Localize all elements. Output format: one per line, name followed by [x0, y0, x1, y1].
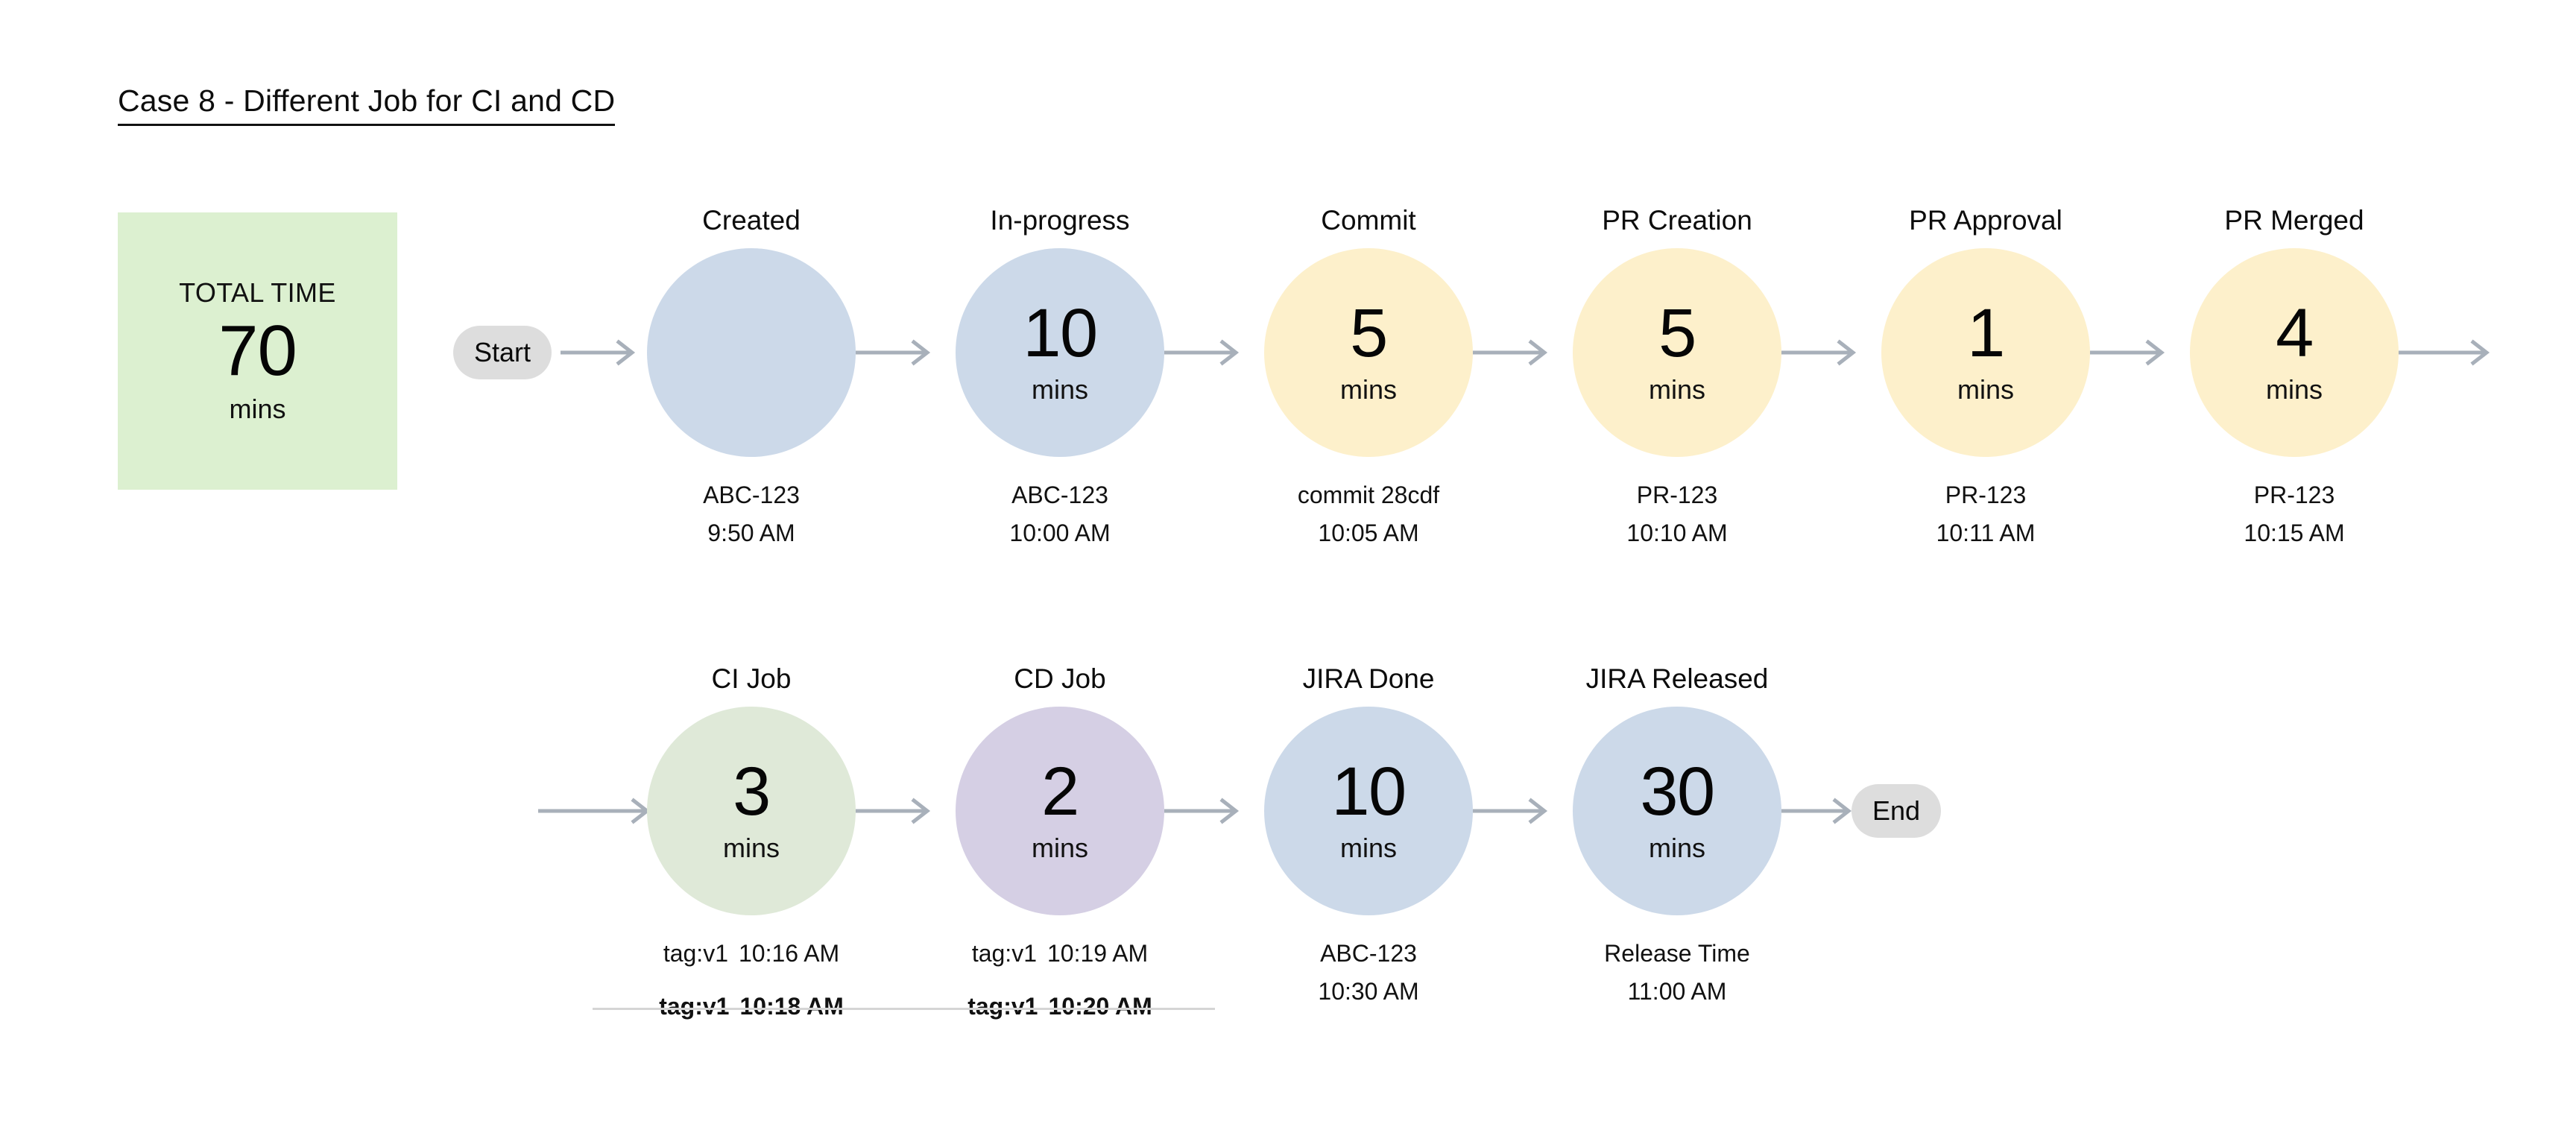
node-value: 5: [1350, 300, 1387, 367]
node-caption: tag:v110:16 AM tag:v110:18 AM: [617, 935, 885, 1025]
node-pr-merged[interactable]: PR Merged 4 mins PR-123 10:15 AM: [2190, 248, 2399, 457]
total-time-label: TOTAL TIME: [179, 277, 336, 309]
node-bubble[interactable]: 5 mins: [1264, 248, 1473, 457]
node-value: 30: [1640, 758, 1714, 825]
node-jira-released[interactable]: JIRA Released 30 mins Release Time 11:00…: [1573, 707, 1781, 915]
node-caption-time: 10:11 AM: [1851, 514, 2120, 552]
connector-created-to-inprogress: [856, 339, 938, 366]
total-time-value: 70: [218, 315, 297, 388]
caption-start-time: 10:19 AM: [1047, 940, 1148, 967]
node-bubble[interactable]: 30 mins: [1573, 707, 1781, 915]
node-caption-start: tag:v110:16 AM: [617, 935, 885, 973]
node-unit: mins: [1032, 374, 1088, 405]
node-caption-time: 9:50 AM: [617, 514, 885, 552]
node-bubble[interactable]: [647, 248, 856, 457]
node-bubble[interactable]: 4 mins: [2190, 248, 2399, 457]
node-caption: ABC-123 9:50 AM: [617, 476, 885, 552]
node-title: In-progress: [956, 205, 1164, 236]
node-created[interactable]: Created ABC-123 9:50 AM: [647, 248, 856, 457]
connector-prcreation-to-prapproval: [1781, 339, 1863, 366]
node-value: 2: [1041, 758, 1079, 825]
node-commit[interactable]: Commit 5 mins commit 28cdf 10:05 AM: [1264, 248, 1473, 457]
node-caption-ref: ABC-123: [617, 476, 885, 514]
node-title: CD Job: [956, 663, 1164, 695]
node-caption-time: 11:00 AM: [1543, 973, 1811, 1011]
node-caption-time: 10:30 AM: [1234, 973, 1503, 1011]
node-unit: mins: [1340, 833, 1397, 864]
caption-start-time: 10:16 AM: [739, 940, 839, 967]
node-title: CI Job: [647, 663, 856, 695]
node-jira-done[interactable]: JIRA Done 10 mins ABC-123 10:30 AM: [1264, 707, 1473, 915]
node-title: PR Approval: [1881, 205, 2090, 236]
connector-prapproval-to-prmerged: [2090, 339, 2172, 366]
start-marker[interactable]: Start: [453, 326, 552, 379]
node-value: 3: [733, 758, 770, 825]
caption-end-time: 10:20 AM: [1048, 993, 1152, 1020]
node-bubble[interactable]: 3 mins: [647, 707, 856, 915]
node-caption-ref: ABC-123: [926, 476, 1194, 514]
node-title: JIRA Released: [1573, 663, 1781, 695]
connector-row1-to-cijob: [538, 798, 657, 824]
node-caption: PR-123 10:10 AM: [1543, 476, 1811, 552]
page-title: Case 8 - Different Job for CI and CD: [118, 83, 615, 126]
node-value: 10: [1331, 758, 1405, 825]
connector-start-to-created: [561, 339, 643, 366]
caption-end-time: 10:18 AM: [739, 993, 843, 1020]
node-title: PR Merged: [2190, 205, 2399, 236]
connector-jiradone-to-jirareleased: [1473, 798, 1555, 824]
node-caption-ref: PR-123: [1543, 476, 1811, 514]
caption-end-tag: tag:v1: [659, 993, 729, 1020]
node-caption-ref: Release Time: [1543, 935, 1811, 973]
caption-start-tag: tag:v1: [972, 940, 1037, 967]
connector-prmerged-to-row2: [2399, 339, 2495, 366]
node-caption: Release Time 11:00 AM: [1543, 935, 1811, 1010]
node-bubble[interactable]: 2 mins: [956, 707, 1164, 915]
node-caption: ABC-123 10:00 AM: [926, 476, 1194, 552]
diagram-canvas: Case 8 - Different Job for CI and CD TOT…: [0, 0, 2576, 1127]
node-value: 10: [1023, 300, 1096, 367]
node-value: 1: [1967, 300, 2004, 367]
connector-cijob-to-cdjob: [856, 798, 938, 824]
node-unit: mins: [1649, 833, 1705, 864]
node-unit: mins: [2266, 374, 2323, 405]
node-caption: PR-123 10:11 AM: [1851, 476, 2120, 552]
node-caption-ref: commit 28cdf: [1234, 476, 1503, 514]
node-title: PR Creation: [1573, 205, 1781, 236]
node-pr-creation[interactable]: PR Creation 5 mins PR-123 10:10 AM: [1573, 248, 1781, 457]
node-caption: ABC-123 10:30 AM: [1234, 935, 1503, 1010]
node-pr-approval[interactable]: PR Approval 1 mins PR-123 10:11 AM: [1881, 248, 2090, 457]
connector-inprogress-to-commit: [1164, 339, 1246, 366]
connector-commit-to-prcreation: [1473, 339, 1555, 366]
node-title: JIRA Done: [1264, 663, 1473, 695]
node-unit: mins: [1957, 374, 2014, 405]
node-bubble[interactable]: 1 mins: [1881, 248, 2090, 457]
node-unit: mins: [1649, 374, 1705, 405]
connector-cdjob-to-jiradone: [1164, 798, 1246, 824]
node-bubble[interactable]: 10 mins: [956, 248, 1164, 457]
caption-end-tag: tag:v1: [967, 993, 1038, 1020]
node-title: Commit: [1264, 205, 1473, 236]
node-caption-ref: ABC-123: [1234, 935, 1503, 973]
node-unit: mins: [723, 833, 780, 864]
node-caption: commit 28cdf 10:05 AM: [1234, 476, 1503, 552]
node-unit: mins: [1032, 833, 1088, 864]
node-ci-job[interactable]: CI Job 3 mins tag:v110:16 AM tag:v110:18…: [647, 707, 856, 915]
caption-start-tag: tag:v1: [663, 940, 728, 967]
node-caption-end: tag:v110:18 AM: [617, 988, 885, 1026]
node-caption-time: 10:00 AM: [926, 514, 1194, 552]
node-value: 4: [2276, 300, 2313, 367]
node-caption: PR-123 10:15 AM: [2160, 476, 2428, 552]
node-caption: tag:v110:19 AM tag:v110:20 AM: [926, 935, 1194, 1025]
node-caption-time: 10:05 AM: [1234, 514, 1503, 552]
cicd-caption-divider: [593, 1008, 1215, 1010]
node-caption-time: 10:10 AM: [1543, 514, 1811, 552]
node-value: 5: [1658, 300, 1696, 367]
node-bubble[interactable]: 5 mins: [1573, 248, 1781, 457]
node-caption-end: tag:v110:20 AM: [926, 988, 1194, 1026]
node-bubble[interactable]: 10 mins: [1264, 707, 1473, 915]
node-unit: mins: [1340, 374, 1397, 405]
node-in-progress[interactable]: In-progress 10 mins ABC-123 10:00 AM: [956, 248, 1164, 457]
total-time-unit: mins: [229, 394, 285, 425]
end-marker[interactable]: End: [1851, 784, 1941, 838]
connector-jirareleased-to-end: [1781, 798, 1859, 824]
node-cd-job[interactable]: CD Job 2 mins tag:v110:19 AM tag:v110:20…: [956, 707, 1164, 915]
node-caption-time: 10:15 AM: [2160, 514, 2428, 552]
node-title: Created: [647, 205, 856, 236]
node-caption-ref: PR-123: [2160, 476, 2428, 514]
node-caption-start: tag:v110:19 AM: [926, 935, 1194, 973]
node-caption-ref: PR-123: [1851, 476, 2120, 514]
total-time-card: TOTAL TIME 70 mins: [118, 212, 397, 490]
